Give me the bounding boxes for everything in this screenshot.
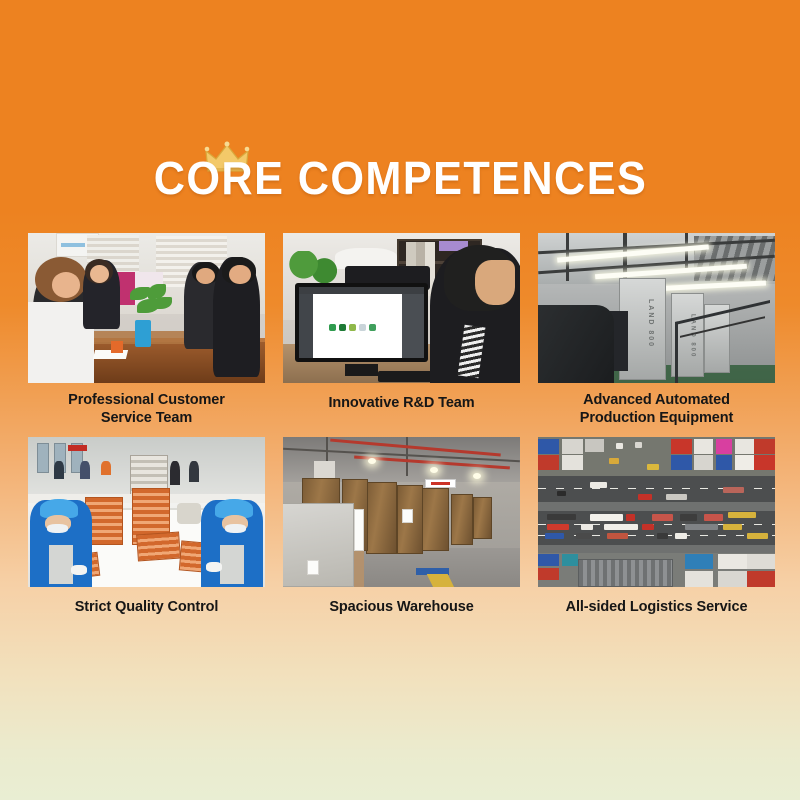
grid-row-top: Professional Customer Service Team (28, 233, 775, 437)
workers-inspecting-boxes-photo[interactable] (28, 437, 265, 587)
grid-row-bottom: Strict Quality Control Spacious Warehous (28, 437, 775, 640)
caption-line-1: Professional Customer (30, 391, 263, 409)
printing-press-machinery-photo[interactable]: LAND 800 LAND 800 (538, 233, 775, 383)
card-caption: Advanced Automated Production Equipment (538, 383, 775, 437)
caption-line-1: Strict Quality Control (30, 598, 263, 616)
card-professional-customer-service-team[interactable]: Professional Customer Service Team (28, 233, 265, 437)
page-title: CORE COMPETENCES (153, 155, 646, 201)
machine-label-2: LAND 800 (690, 314, 696, 358)
card-caption: Professional Customer Service Team (28, 383, 265, 437)
machine-label-1: LAND 800 (647, 299, 654, 348)
aerial-port-container-yard-photo[interactable] (538, 437, 775, 587)
card-spacious-warehouse[interactable]: Spacious Warehouse (283, 437, 520, 640)
page-header: CORE COMPETENCES (0, 155, 800, 201)
caption-line-1: Innovative R&D Team (285, 394, 518, 412)
caption-line-1: All-sided Logistics Service (540, 598, 773, 616)
card-caption: Innovative R&D Team (283, 383, 520, 436)
card-caption: Strict Quality Control (28, 587, 265, 640)
caption-line-2: Production Equipment (540, 409, 773, 427)
card-caption: Spacious Warehouse (283, 587, 520, 640)
card-all-sided-logistics-service[interactable]: All-sided Logistics Service (538, 437, 775, 640)
card-caption: All-sided Logistics Service (538, 587, 775, 640)
designer-at-computer-photo[interactable] (283, 233, 520, 383)
caption-line-1: Advanced Automated (540, 391, 773, 409)
warehouse-stacked-pallets-photo[interactable] (283, 437, 520, 587)
caption-line-2: Service Team (30, 409, 263, 427)
card-advanced-automated-production-equipment[interactable]: LAND 800 LAND 800 Advanced Automated Pro… (538, 233, 775, 437)
caption-line-1: Spacious Warehouse (285, 598, 518, 616)
meeting-room-photo[interactable] (28, 233, 265, 383)
card-strict-quality-control[interactable]: Strict Quality Control (28, 437, 265, 640)
card-innovative-rd-team[interactable]: Innovative R&D Team (283, 233, 520, 437)
core-competences-grid: Professional Customer Service Team (28, 233, 775, 640)
